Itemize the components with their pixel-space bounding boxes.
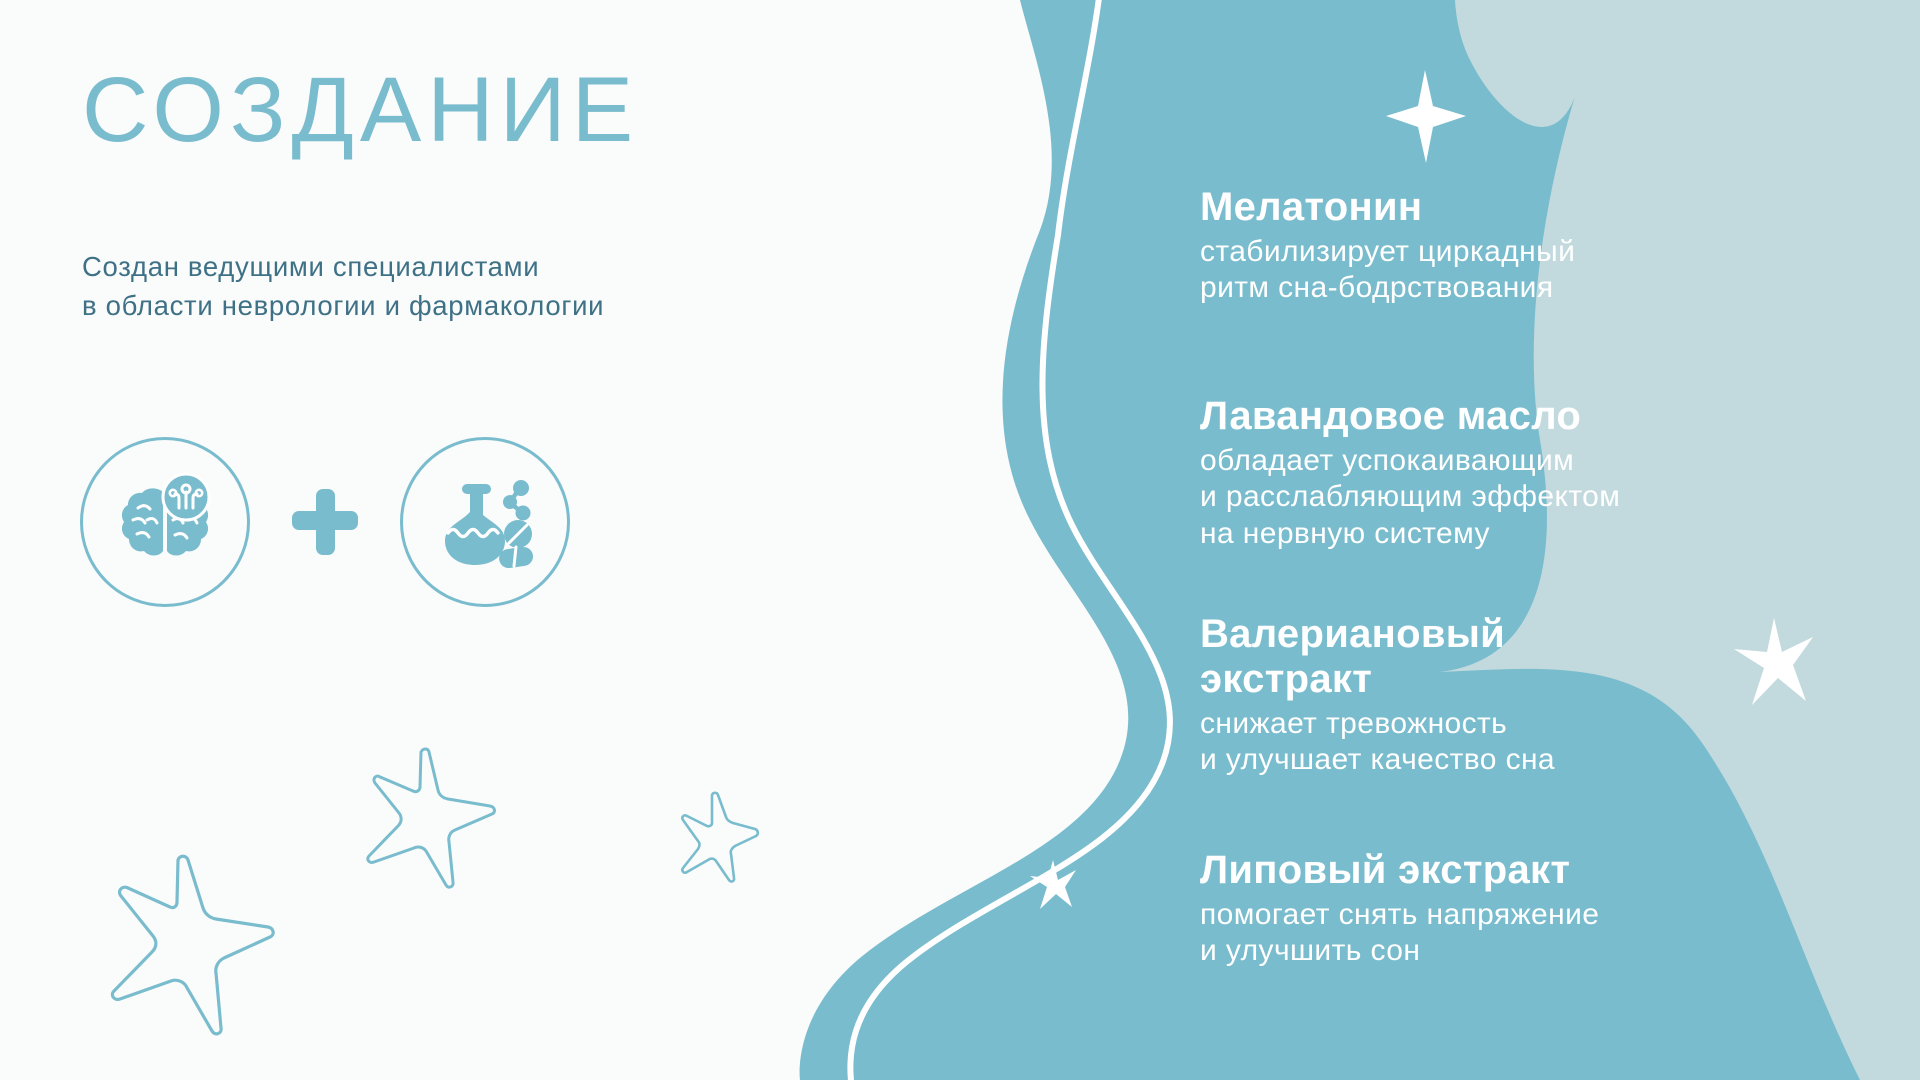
ingredient-description: снижает тревожность и улучшает качество … xyxy=(1200,706,1880,779)
plus-icon xyxy=(292,489,358,555)
slide-root: СОЗДАНИЕ Создан ведущими специалистами в… xyxy=(0,0,1920,1080)
desc-line: на нервную систему xyxy=(1200,516,1880,553)
ingredient-title: Мелатонин xyxy=(1200,185,1880,230)
flask-pills-icon xyxy=(433,470,537,574)
desc-line: ритм сна-бодрствования xyxy=(1200,270,1880,307)
ingredient-title: Лавандовое масло xyxy=(1200,394,1880,439)
neurology-icon-circle xyxy=(80,437,250,607)
pharmacology-icon-circle xyxy=(400,437,570,607)
desc-line: обладает успокаивающим xyxy=(1200,443,1880,480)
ingredient-item: Валериановый экстракт снижает тревожност… xyxy=(1200,612,1880,779)
desc-line: помогает снять напряжение xyxy=(1200,897,1880,934)
desc-line: снижает тревожность xyxy=(1200,706,1880,743)
ingredient-description: стабилизирует циркадный ритм сна-бодрств… xyxy=(1200,234,1880,307)
ingredient-title: Валериановый экстракт xyxy=(1200,612,1880,702)
desc-line: и расслабляющим эффектом xyxy=(1200,479,1880,516)
ingredient-description: обладает успокаивающим и расслабляющим э… xyxy=(1200,443,1880,553)
subtitle-block: Создан ведущими специалистами в области … xyxy=(82,247,782,325)
desc-line: и улучшает качество сна xyxy=(1200,742,1880,779)
icon-row xyxy=(80,437,570,607)
subtitle-line-1: Создан ведущими специалистами xyxy=(82,247,782,286)
ingredient-description: помогает снять напряжение и улучшить сон xyxy=(1200,897,1880,970)
desc-line: и улучшить сон xyxy=(1200,933,1880,970)
page-title: СОЗДАНИЕ xyxy=(82,62,782,159)
ingredient-item: Лавандовое масло обладает успокаивающим … xyxy=(1200,394,1880,553)
subtitle-line-2: в области неврологии и фармакологии xyxy=(82,286,782,325)
left-content-column: СОЗДАНИЕ Создан ведущими специалистами в… xyxy=(82,62,782,325)
ingredient-item: Липовый экстракт помогает снять напряжен… xyxy=(1200,848,1880,970)
ingredient-item: Мелатонин стабилизирует циркадный ритм с… xyxy=(1200,185,1880,307)
desc-line: стабилизирует циркадный xyxy=(1200,234,1880,271)
brain-circuit-icon xyxy=(113,470,217,574)
ingredients-list: Мелатонин стабилизирует циркадный ритм с… xyxy=(1200,0,1880,1080)
ingredient-title: Липовый экстракт xyxy=(1200,848,1880,893)
